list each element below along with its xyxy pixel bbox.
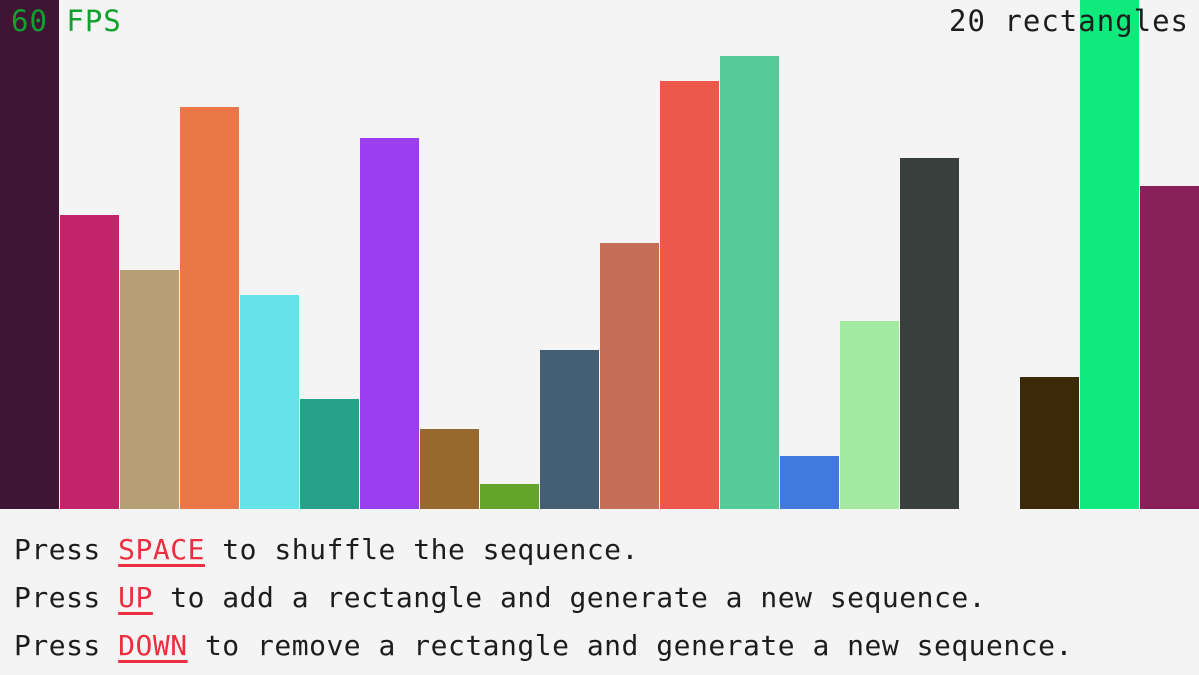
bar-18 [1020, 377, 1079, 509]
bar-7 [360, 138, 419, 509]
bar-15 [840, 321, 899, 509]
bar-1 [0, 0, 59, 509]
instruction-line-add: Press UP to add a rectangle and generate… [14, 574, 1199, 622]
bar-13 [720, 56, 779, 509]
bar-20 [1140, 186, 1199, 509]
key-up[interactable]: UP [118, 581, 153, 614]
bar-5 [240, 295, 299, 509]
bar-19 [1080, 0, 1139, 509]
rectangle-count-label: 20 rectangles [949, 7, 1189, 36]
bar-6 [300, 399, 359, 509]
instruction-suffix: to shuffle the sequence. [205, 533, 639, 566]
key-space[interactable]: SPACE [118, 533, 205, 566]
bar-8 [420, 429, 479, 509]
bar-11 [600, 243, 659, 509]
instruction-line-remove: Press DOWN to remove a rectangle and gen… [14, 622, 1199, 670]
bar-9 [480, 484, 539, 509]
bar-2 [60, 215, 119, 509]
instruction-prefix: Press [14, 629, 118, 662]
bar-14 [780, 456, 839, 509]
instruction-suffix: to add a rectangle and generate a new se… [153, 581, 986, 614]
key-down[interactable]: DOWN [118, 629, 187, 662]
instructions-panel: Press SPACE to shuffle the sequence. Pre… [0, 509, 1199, 675]
app-stage: 60 FPS 20 rectangles Press SPACE to shuf… [0, 0, 1199, 675]
rectangles-chart [0, 0, 1199, 509]
bar-16 [900, 158, 959, 509]
instruction-line-shuffle: Press SPACE to shuffle the sequence. [14, 526, 1199, 574]
bar-12 [660, 81, 719, 509]
fps-counter: 60 FPS [11, 7, 122, 36]
instruction-suffix: to remove a rectangle and generate a new… [188, 629, 1073, 662]
instruction-prefix: Press [14, 581, 118, 614]
bar-4 [180, 107, 239, 509]
instruction-prefix: Press [14, 533, 118, 566]
bar-10 [540, 350, 599, 509]
bar-3 [120, 270, 179, 509]
